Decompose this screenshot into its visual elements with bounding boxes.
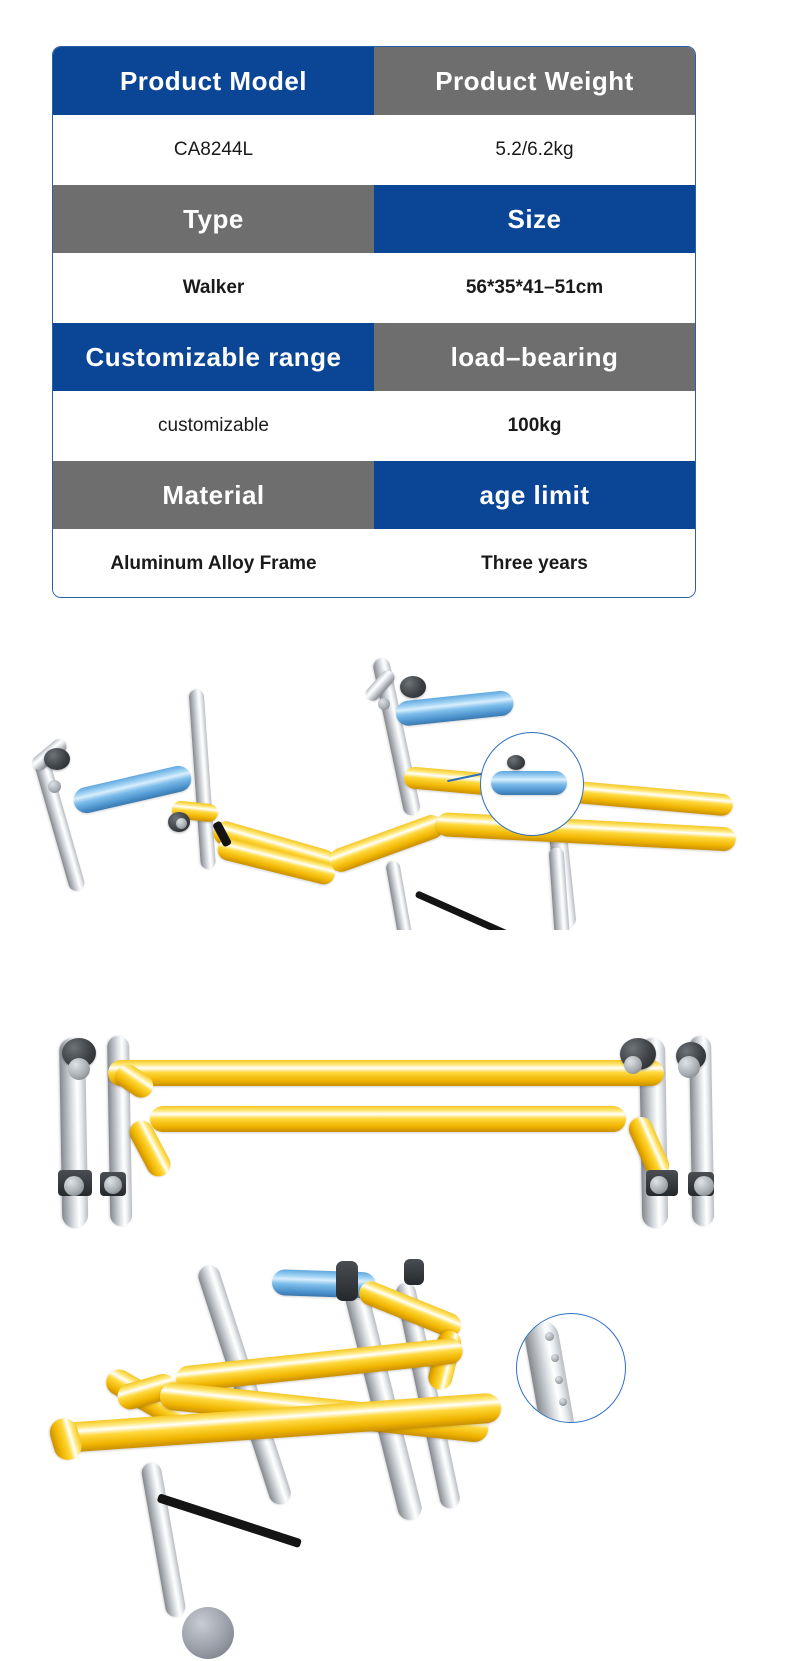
product-photo-folding: Vertical Folding Convenient storage and … [0,930,790,1260]
frame-tube-yellow [435,812,736,852]
screw [650,1176,668,1194]
table-row: Type Size [53,185,695,253]
photo-canvas-armrest [0,640,790,930]
header-material: Material [53,461,374,529]
screw [624,1056,642,1074]
value-size: 56*35*41–51cm [374,253,695,323]
table-row: Product Model Product Weight [53,47,695,115]
header-size: Size [374,185,695,253]
frame-tube-yellow [108,1060,664,1086]
table-row: CA8244L 5.2/6.2kg [53,115,695,185]
screw [104,1176,122,1194]
frame-tube-yellow [150,1106,626,1132]
support-strap [415,890,527,930]
frame-tube-silver [140,1461,187,1618]
frame-tube-silver [32,754,86,893]
joint-cap [400,676,426,698]
value-age-limit: Three years [374,529,695,598]
table-row: Material age limit [53,461,695,529]
frame-tube-silver [385,860,414,930]
value-product-weight: 5.2/6.2kg [374,115,695,185]
adjustment-hole [555,1376,563,1384]
table-row: customizable 100kg [53,391,695,461]
header-product-weight: Product Weight [374,47,695,115]
joint-cap-detail [507,755,525,770]
photo-canvas-folding [0,930,790,1260]
table-row: Aluminum Alloy Frame Three years [53,529,695,598]
screw [694,1176,714,1196]
adjustment-hole [559,1398,567,1406]
value-type: Walker [53,253,374,323]
screw [68,1058,90,1080]
adjustment-hole [551,1354,559,1362]
joint-cap [44,748,70,770]
value-material: Aluminum Alloy Frame [53,529,374,598]
header-product-model: Product Model [53,47,374,115]
header-load-bearing: load–bearing [374,323,695,391]
header-customizable-range: Customizable range [53,323,374,391]
screw [64,1176,84,1196]
wheel [182,1607,234,1659]
product-photo-height: Height adjustable Adaptable to different… [0,1255,790,1661]
header-type: Type [53,185,374,253]
value-product-model: CA8244L [53,115,374,185]
header-age-limit: age limit [374,461,695,529]
zoom-detail-circle-armrest [480,732,584,836]
frame-tube-silver [189,689,217,870]
specification-table: Product Model Product Weight CA8244L 5.2… [52,46,696,598]
table-row: Customizable range load–bearing [53,323,695,391]
value-customizable-range: customizable [53,391,374,461]
screw [48,780,61,793]
screw [678,1056,700,1078]
screw [378,698,390,710]
adjustment-hole [545,1332,554,1341]
product-photo-armrest: Armrest design High–density sponge, swea… [0,640,790,930]
screw [176,818,187,829]
product-spec-page: Product Model Product Weight CA8244L 5.2… [0,0,790,1661]
photo-canvas-height [0,1255,790,1661]
table-row: Walker 56*35*41–51cm [53,253,695,323]
clamp [404,1259,424,1285]
armrest-grip-blue-detail [491,771,567,795]
zoom-detail-circle-height [516,1313,626,1423]
clamp [336,1261,358,1301]
value-load-bearing: 100kg [374,391,695,461]
